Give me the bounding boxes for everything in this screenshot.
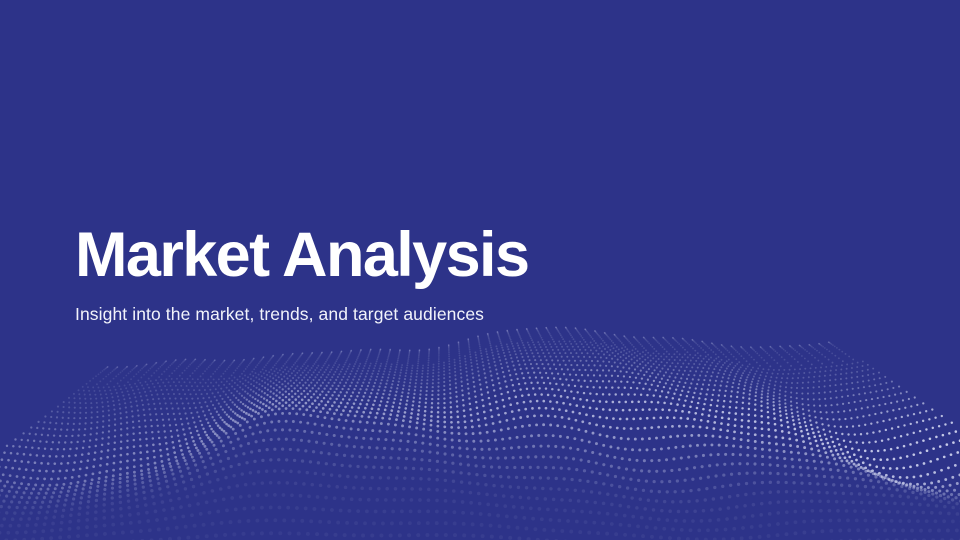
title-slide: Market Analysis Insight into the market,…	[0, 0, 960, 540]
title-block: Market Analysis Insight into the market,…	[75, 222, 835, 326]
page-subtitle: Insight into the market, trends, and tar…	[75, 289, 835, 326]
page-title: Market Analysis	[75, 222, 835, 289]
